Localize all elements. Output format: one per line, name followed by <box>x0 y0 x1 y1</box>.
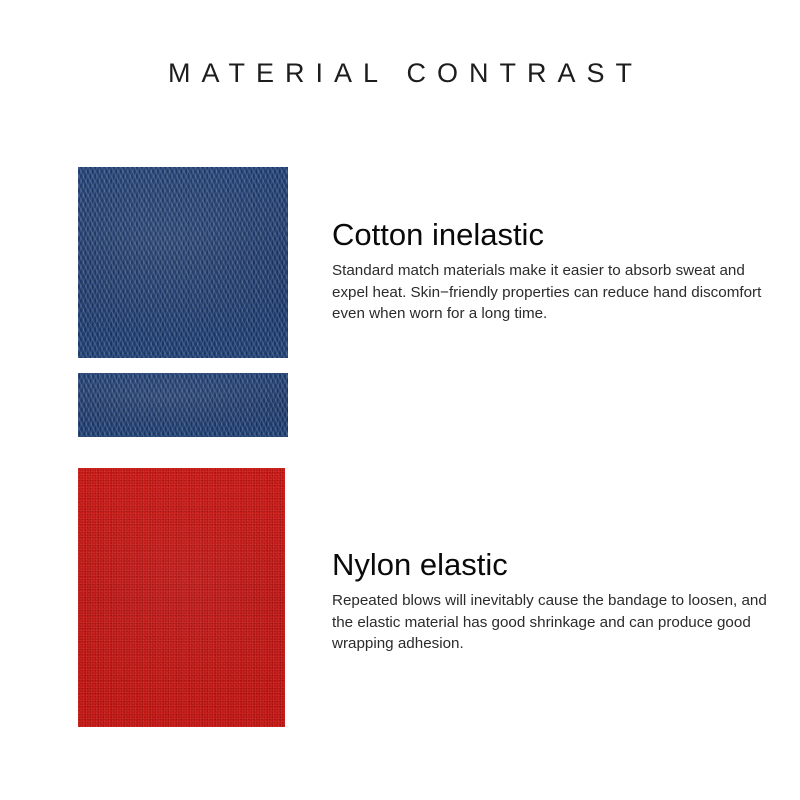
nylon-body-text: Repeated blows will inevitably cause the… <box>332 590 772 655</box>
cotton-fabric-swatch <box>78 167 288 358</box>
cotton-description-block: Cotton inelastic Standard match material… <box>332 216 772 325</box>
cotton-heading: Cotton inelastic <box>332 216 772 254</box>
page-title: MATERIAL CONTRAST <box>0 58 800 89</box>
nylon-heading: Nylon elastic <box>332 546 772 584</box>
cotton-body-text: Standard match materials make it easier … <box>332 260 772 325</box>
material-contrast-infographic: MATERIAL CONTRAST Cotton inelastic Stand… <box>0 0 800 800</box>
nylon-description-block: Nylon elastic Repeated blows will inevit… <box>332 546 772 655</box>
cotton-fabric-strip <box>78 373 288 437</box>
nylon-fabric-swatch <box>78 468 285 727</box>
